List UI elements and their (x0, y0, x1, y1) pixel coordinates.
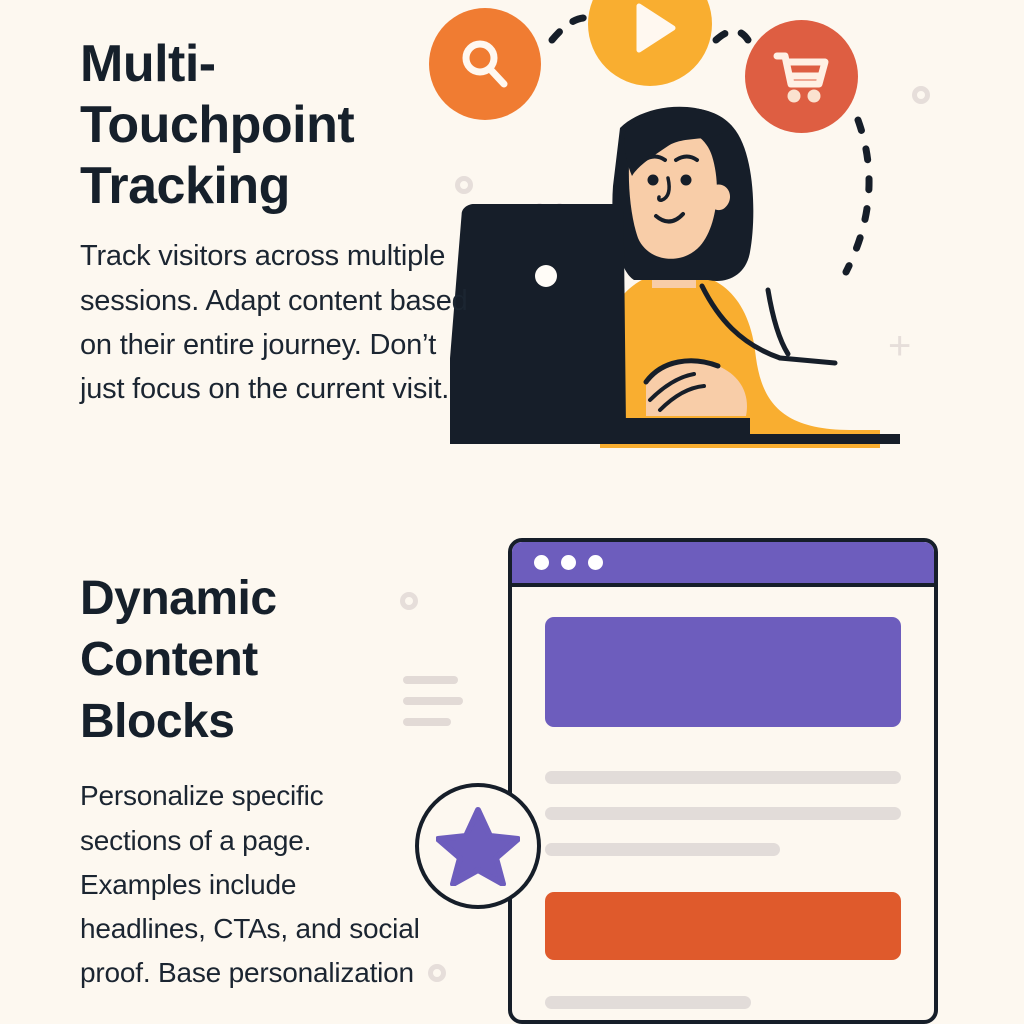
window-dot-3[interactable] (588, 555, 603, 570)
browser-content (512, 587, 934, 1024)
placeholder-line-2 (545, 807, 901, 820)
section-multi-touchpoint-tracking: Multi-Touchpoint Tracking Track visitors… (80, 34, 470, 411)
window-dot-2[interactable] (561, 555, 576, 570)
section-dynamic-content-blocks: Dynamic Content Blocks Personalize speci… (80, 568, 420, 995)
cart-glyph (771, 47, 833, 107)
section-body-text: Track visitors across multiple sessions.… (80, 234, 470, 410)
star-badge[interactable] (415, 783, 541, 909)
person-at-laptop-illustration (450, 100, 900, 460)
play-glyph (623, 0, 683, 58)
placeholder-line-4 (545, 996, 751, 1009)
infographic-page: + (0, 0, 1024, 1024)
section-title: Dynamic Content Blocks (80, 568, 420, 752)
browser-window[interactable] (508, 538, 938, 1024)
ring-decoration-4 (428, 964, 446, 982)
hero-content-block[interactable] (545, 617, 901, 727)
cta-content-block[interactable] (545, 892, 901, 960)
placeholder-line-3 (545, 843, 780, 856)
star-icon (436, 806, 520, 886)
browser-titlebar (512, 542, 934, 587)
placeholder-line-1 (545, 771, 901, 784)
section-body-text: Personalize specific sections of a page.… (80, 774, 420, 995)
page-title: Multi-Touchpoint Tracking (80, 34, 470, 216)
window-dot-1[interactable] (534, 555, 549, 570)
